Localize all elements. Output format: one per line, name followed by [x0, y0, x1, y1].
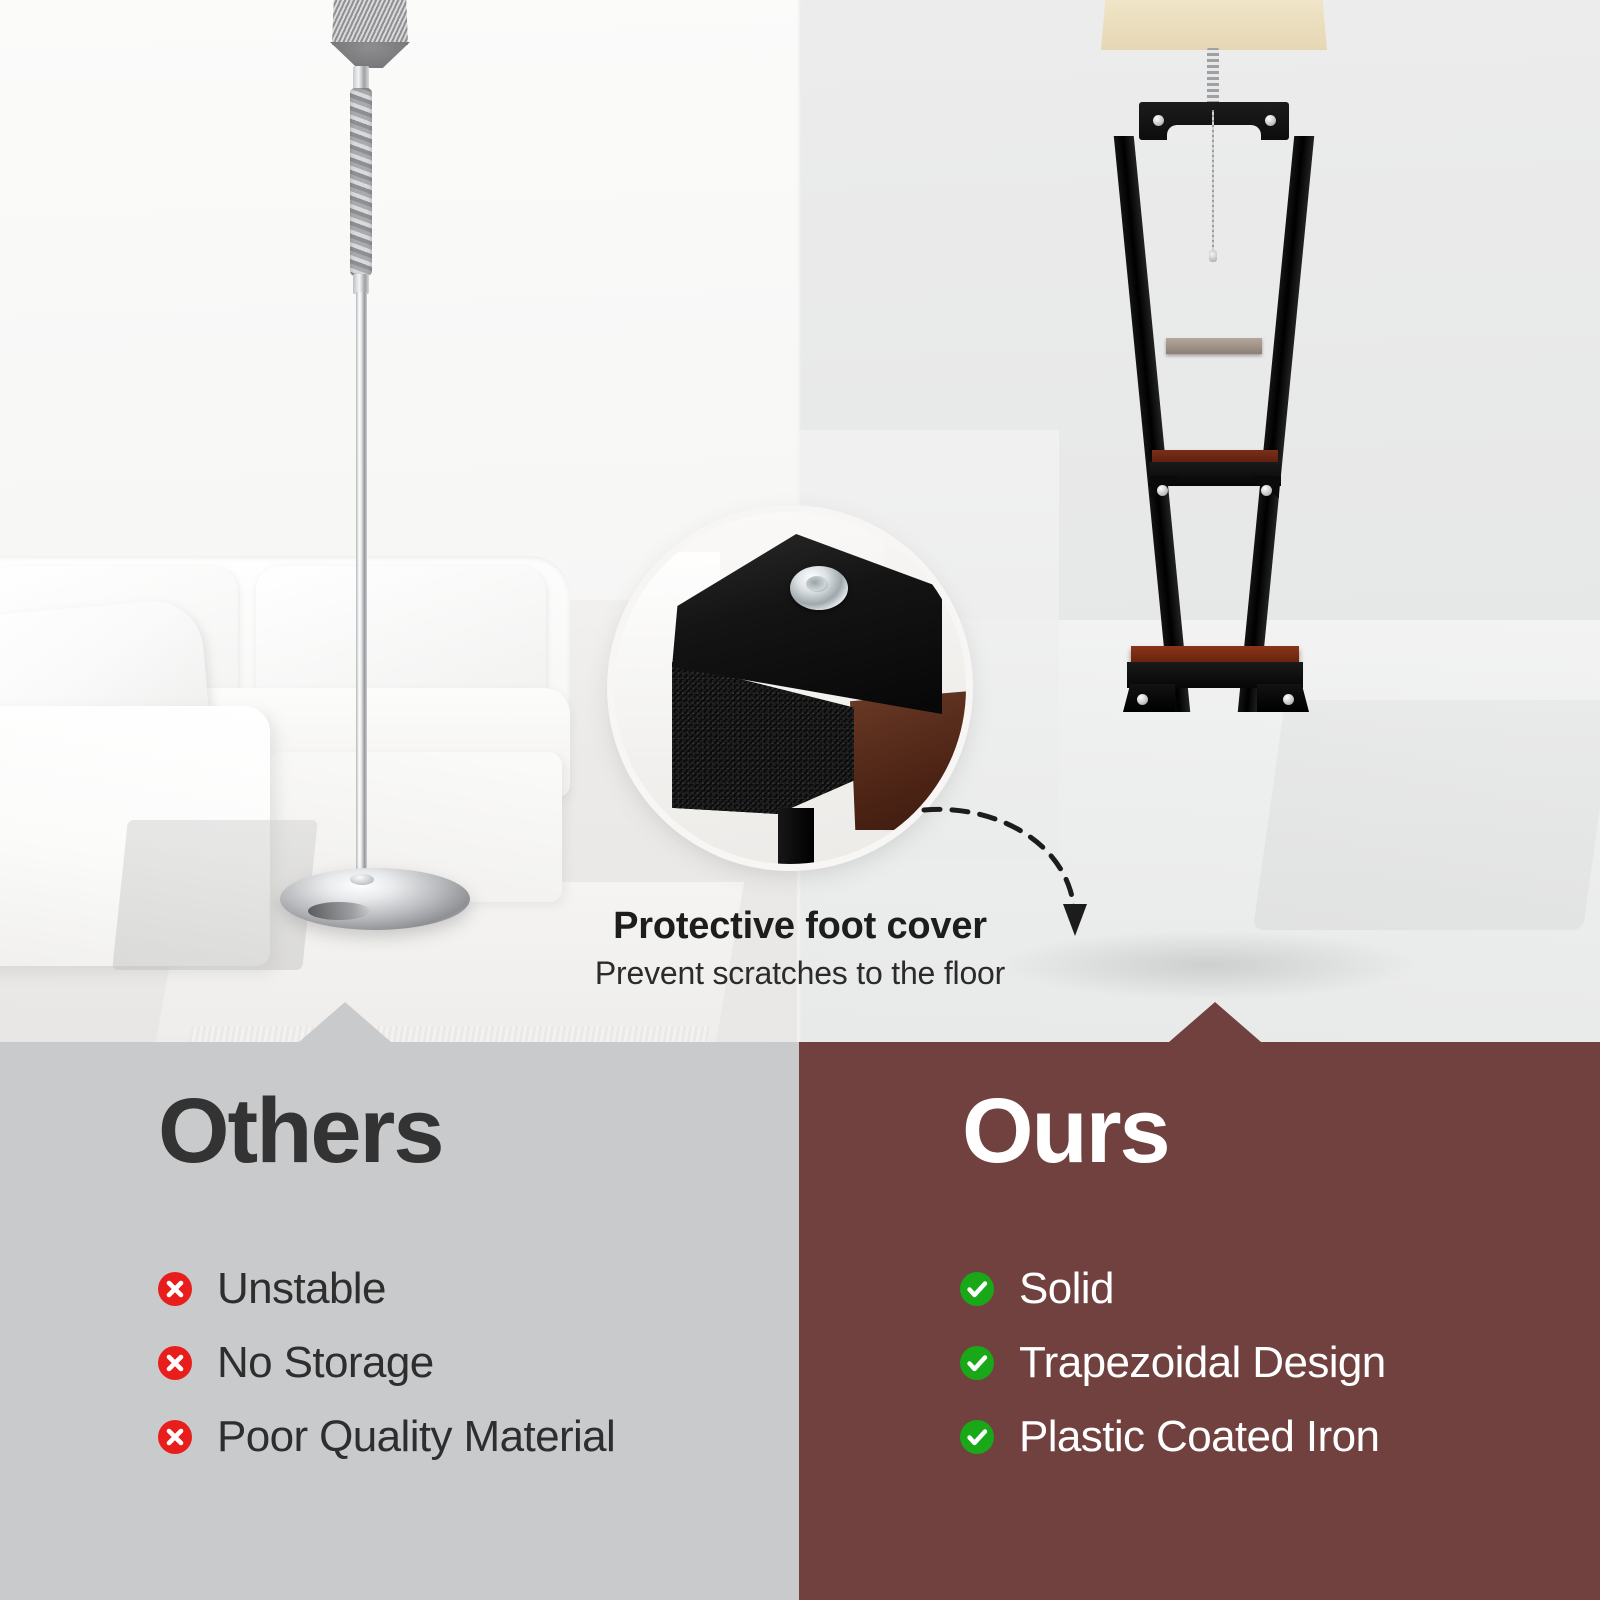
list-item: Solid — [960, 1252, 1580, 1326]
list-item: No Storage — [158, 1326, 778, 1400]
cross-circle-icon — [158, 1346, 192, 1380]
ours-feature-list: Solid Trapezoidal Design Plastic Coated … — [960, 1252, 1580, 1474]
list-item-label: Trapezoidal Design — [1019, 1341, 1386, 1385]
check-circle-icon — [960, 1272, 994, 1306]
list-item-label: Poor Quality Material — [217, 1415, 615, 1459]
frame-top-arch-cutout — [1167, 125, 1261, 145]
screw-icon — [1283, 694, 1294, 705]
product-photo-area: Protective foot cover Prevent scratches … — [0, 0, 1600, 1042]
list-item-label: Plastic Coated Iron — [1019, 1415, 1379, 1459]
list-item-label: Solid — [1019, 1267, 1114, 1311]
screw-icon — [1265, 115, 1276, 126]
others-feature-list: Unstable No Storage Poor Quality Materia… — [158, 1252, 778, 1474]
comparison-infographic: Protective foot cover Prevent scratches … — [0, 0, 1600, 1600]
cross-circle-icon — [158, 1420, 192, 1454]
others-floor-lamp — [300, 0, 440, 940]
check-circle-icon — [960, 1346, 994, 1380]
pull-chain — [1212, 110, 1214, 255]
list-item-label: Unstable — [217, 1267, 386, 1311]
others-heading: Others — [158, 1085, 443, 1177]
rug-fringe — [189, 1026, 712, 1042]
magnified-detail-circle — [614, 512, 966, 864]
screw-icon — [1153, 115, 1164, 126]
threaded-rod — [1207, 48, 1219, 110]
lower-ferrule — [353, 274, 369, 294]
ours-heading: Ours — [962, 1085, 1169, 1177]
ours-panel-pointer — [1169, 1002, 1261, 1042]
screw-icon — [1261, 485, 1272, 496]
frame-leg-left — [1114, 136, 1190, 712]
callout-screw-head — [806, 576, 828, 592]
lampshade-underside — [330, 42, 410, 68]
list-item: Unstable — [158, 1252, 778, 1326]
cross-circle-icon — [158, 1272, 192, 1306]
woven-lampshade — [332, 0, 408, 45]
check-circle-icon — [960, 1420, 994, 1454]
chrome-pole — [356, 292, 367, 892]
callout-title: Protective foot cover — [0, 905, 1600, 948]
cream-lampshade — [1101, 0, 1327, 50]
list-item: Trapezoidal Design — [960, 1326, 1580, 1400]
base-collar — [350, 874, 374, 885]
screw-icon — [1157, 485, 1168, 496]
list-item: Poor Quality Material — [158, 1400, 778, 1474]
callout-frame-stem — [778, 808, 814, 864]
callout-subtitle: Prevent scratches to the floor — [0, 955, 1600, 992]
pull-chain-knob — [1209, 250, 1217, 262]
foot-left — [1123, 684, 1175, 712]
twisted-pole-section — [350, 88, 372, 276]
frame-leg-right — [1238, 136, 1314, 712]
others-panel-pointer — [299, 1002, 391, 1042]
shelf-top — [1166, 338, 1262, 354]
list-item: Plastic Coated Iron — [960, 1400, 1580, 1474]
screw-icon — [1137, 694, 1148, 705]
upper-ferrule — [353, 66, 369, 90]
list-item-label: No Storage — [217, 1341, 434, 1385]
